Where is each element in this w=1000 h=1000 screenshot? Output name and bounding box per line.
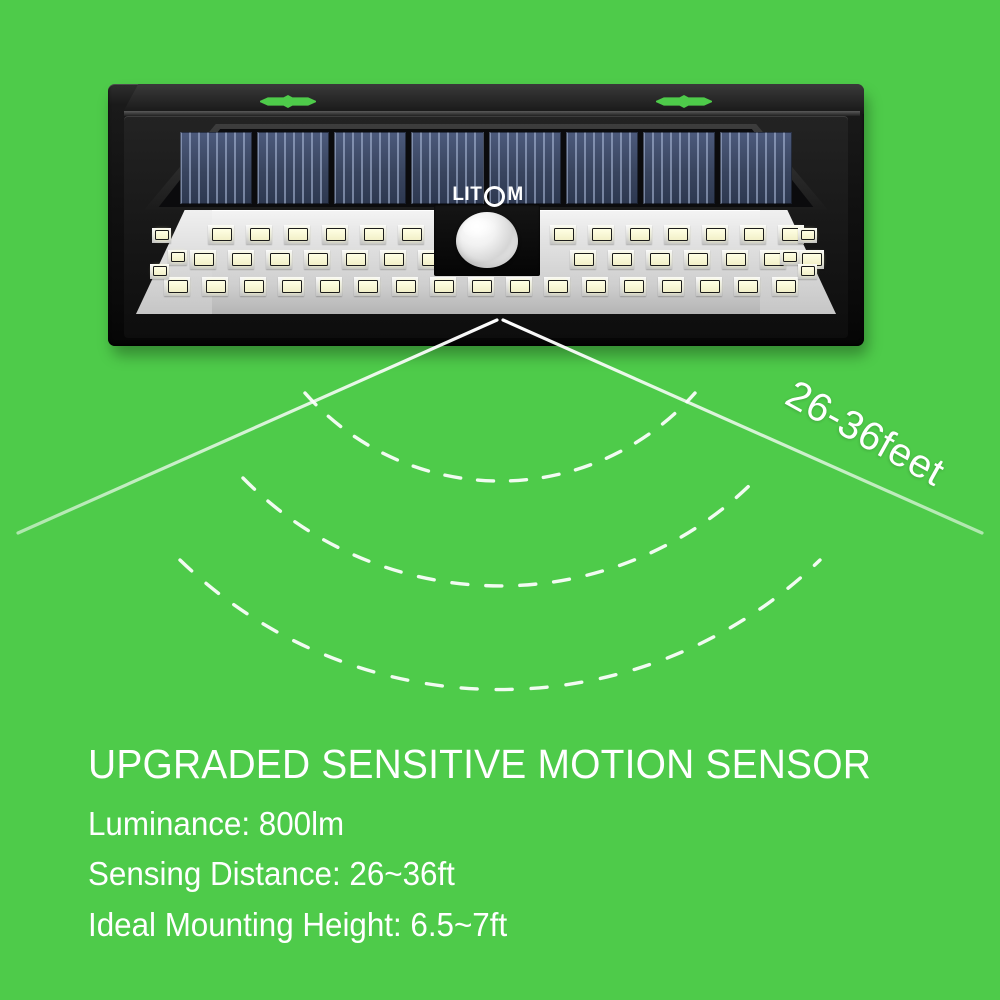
sensing-arc-inner <box>305 393 695 481</box>
brand-logo-post: M <box>507 184 523 206</box>
solar-cell <box>257 132 329 204</box>
led <box>202 277 228 296</box>
led <box>506 277 532 296</box>
led <box>380 250 406 269</box>
led <box>798 264 817 279</box>
sensing-distance-label: 26-36feet <box>778 372 952 495</box>
led <box>430 277 456 296</box>
led <box>228 250 254 269</box>
led <box>780 250 799 265</box>
led <box>582 277 608 296</box>
led <box>208 225 234 244</box>
sensing-arc-middle <box>243 478 757 586</box>
solar-wall-light-product: LITM <box>108 84 868 352</box>
led <box>278 277 304 296</box>
led <box>734 277 760 296</box>
headline: UPGRADED SENSITIVE MOTION SENSOR <box>88 742 924 786</box>
led <box>798 228 817 243</box>
led <box>392 277 418 296</box>
sensing-arc-outer <box>180 560 820 690</box>
led <box>658 277 684 296</box>
lamp-back-plate <box>122 84 864 114</box>
pir-motion-sensor-dome <box>456 212 518 268</box>
led <box>284 225 310 244</box>
led <box>164 277 190 296</box>
led <box>190 250 216 269</box>
led <box>304 250 330 269</box>
spec-mounting-height: Ideal Mounting Height: 6.5~7ft <box>88 903 924 947</box>
led <box>740 225 766 244</box>
led <box>684 250 710 269</box>
solar-cell <box>334 132 406 204</box>
brand-logo-circle-o <box>484 186 505 207</box>
spec-sensing-distance: Sensing Distance: 26~36ft <box>88 852 924 896</box>
led <box>468 277 494 296</box>
led <box>246 225 272 244</box>
spec-luminance: Luminance: 800lm <box>88 802 924 846</box>
solar-cell <box>180 132 252 204</box>
product-marketing-image: LITM 26-36feet UPGRADED SENSITIVE MOTION… <box>0 0 1000 1000</box>
led <box>322 225 348 244</box>
led <box>646 250 672 269</box>
brand-logo: LITM <box>420 184 556 206</box>
led <box>696 277 722 296</box>
led <box>702 225 728 244</box>
solar-cell <box>643 132 715 204</box>
led <box>398 225 424 244</box>
led <box>152 228 171 243</box>
led <box>722 250 748 269</box>
led <box>316 277 342 296</box>
led <box>608 250 634 269</box>
led <box>354 277 380 296</box>
marketing-copy-block: UPGRADED SENSITIVE MOTION SENSOR Luminan… <box>88 742 968 947</box>
led <box>168 250 187 265</box>
led <box>266 250 292 269</box>
led <box>626 225 652 244</box>
solar-cell <box>566 132 638 204</box>
brand-logo-pre: LIT <box>452 184 482 206</box>
led <box>150 264 169 279</box>
led <box>570 250 596 269</box>
led <box>544 277 570 296</box>
led <box>588 225 614 244</box>
led <box>664 225 690 244</box>
led <box>342 250 368 269</box>
led <box>360 225 386 244</box>
led <box>240 277 266 296</box>
led <box>620 277 646 296</box>
led <box>550 225 576 244</box>
solar-cell <box>720 132 792 204</box>
led <box>772 277 798 296</box>
